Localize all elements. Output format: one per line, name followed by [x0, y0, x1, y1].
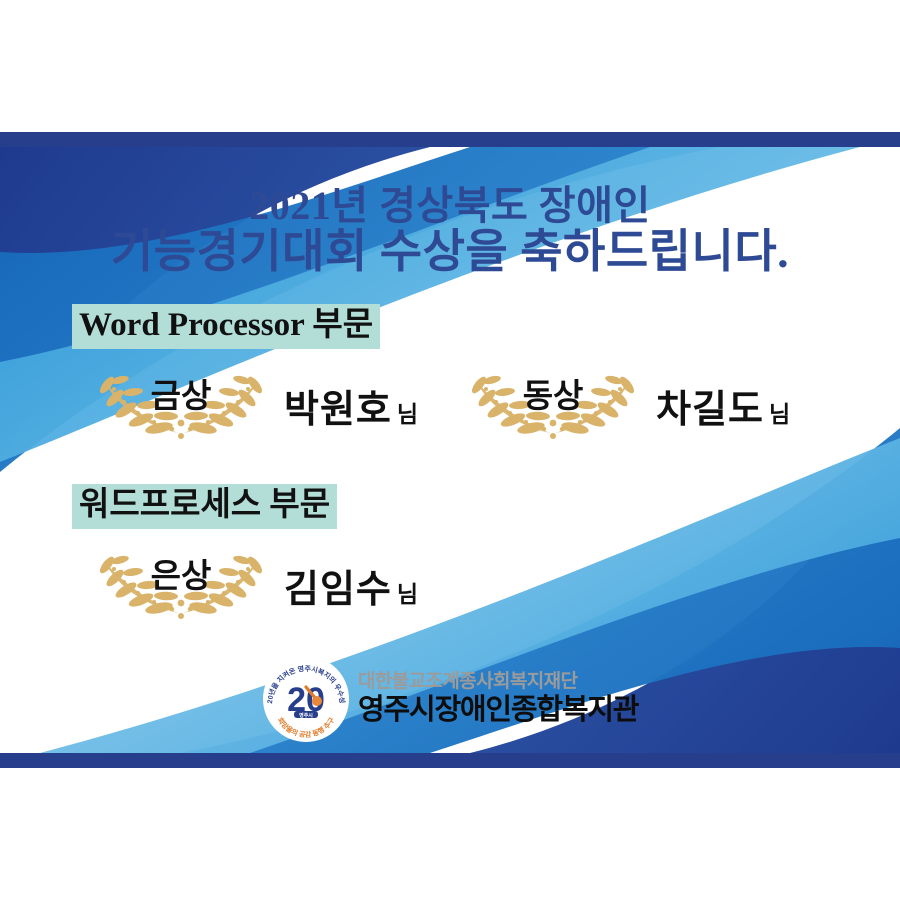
recipient-name: 김임수: [284, 558, 392, 613]
laurel-wreath-icon: 금상: [90, 367, 272, 445]
award-rank-label: 금상: [90, 369, 272, 417]
svg-text:영주시: 영주시: [299, 712, 313, 719]
award-category-word-processor: Word Processor 부문: [72, 304, 790, 445]
recipient-name: 차길도: [656, 378, 764, 433]
awards-row: 은상 김임수 님: [72, 547, 418, 625]
center-name: 영주시장애인종합복지관: [358, 694, 638, 727]
category-title: Word Processor 부문: [72, 304, 380, 349]
award-entry: 금상 박원호 님: [90, 367, 418, 445]
title-line-1: 2021년 경상북도 장애인: [0, 184, 900, 227]
award-recipient: 김임수 님: [284, 558, 418, 613]
laurel-wreath-icon: 동상: [462, 367, 644, 445]
logo-text-block: 대한불교조계종사회복지재단 영주시장애인종합복지관: [358, 670, 638, 727]
recipient-honorific: 님: [397, 395, 418, 429]
award-rank-label: 동상: [462, 369, 644, 417]
award-recipient: 박원호 님: [284, 378, 418, 433]
award-recipient: 차길도 님: [656, 378, 790, 433]
laurel-wreath-icon: 은상: [90, 547, 272, 625]
category-title: 워드프로세스 부문: [72, 484, 337, 529]
anniversary-20-emblem-icon: 20년을 지켜온 영주시복지의 우수성 희망을의 공감 동행 추구 20 영주시: [262, 655, 350, 743]
poster-title: 2021년 경상북도 장애인 기능경기대회 수상을 축하드립니다.: [0, 184, 900, 277]
award-entry: 동상 차길도 님: [462, 367, 790, 445]
awards-row: 금상 박원호 님: [72, 367, 790, 445]
award-rank-label: 은상: [90, 549, 272, 597]
recipient-honorific: 님: [397, 575, 418, 609]
bottom-border-bar: [0, 753, 900, 768]
recipient-name: 박원호: [284, 378, 392, 433]
organization-logo: 20년을 지켜온 영주시복지의 우수성 희망을의 공감 동행 추구 20 영주시…: [262, 655, 638, 743]
foundation-name: 대한불교조계종사회복지재단: [358, 670, 638, 694]
title-line-2: 기능경기대회 수상을 축하드립니다.: [0, 227, 900, 277]
top-border-bar: [0, 132, 900, 147]
recipient-honorific: 님: [769, 395, 790, 429]
congratulations-poster: 2021년 경상북도 장애인 기능경기대회 수상을 축하드립니다. Word P…: [0, 132, 900, 768]
award-entry: 은상 김임수 님: [90, 547, 418, 625]
award-category-word-process: 워드프로세스 부문: [72, 484, 418, 625]
